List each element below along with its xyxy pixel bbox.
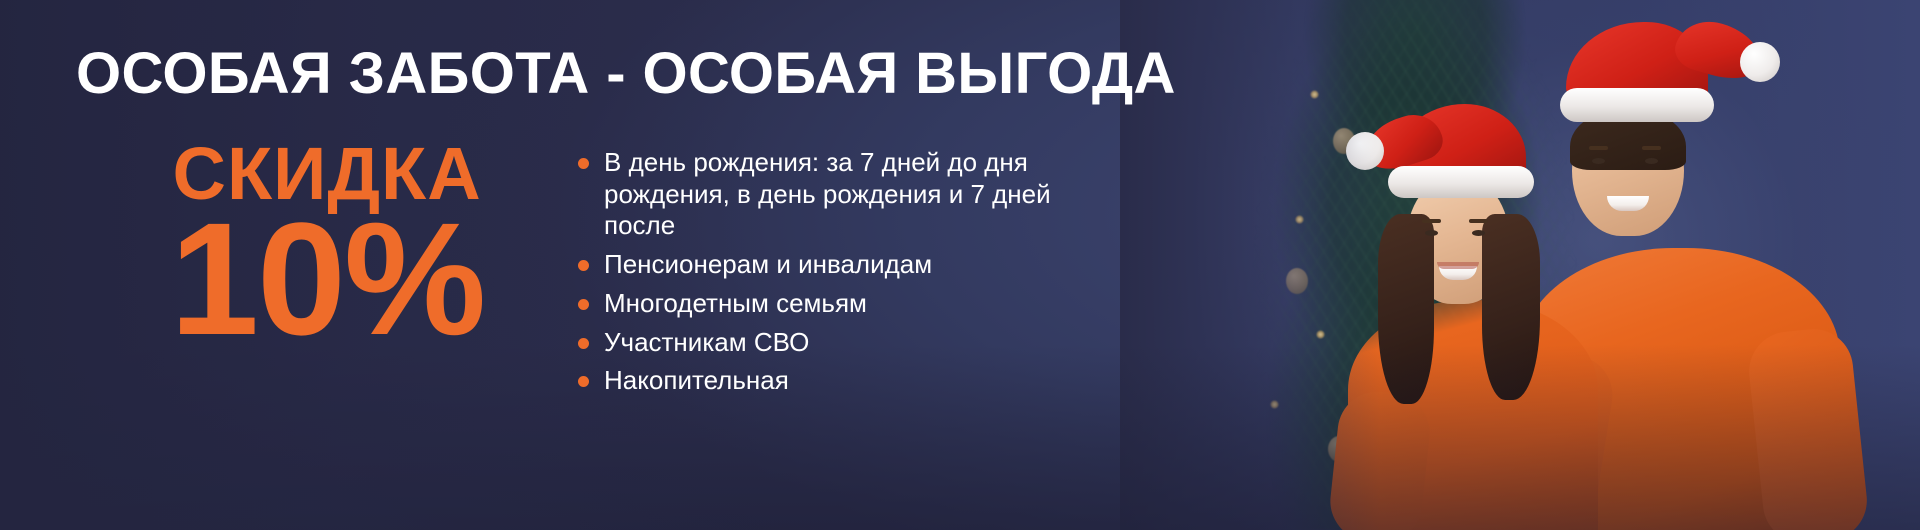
list-item: Накопительная xyxy=(572,365,1082,397)
discount-block: СКИДКА 10% xyxy=(170,140,484,348)
discount-value: 10% xyxy=(170,210,484,348)
list-item: Пенсионерам и инвалидам xyxy=(572,249,1082,281)
promo-banner: ОСОБАЯ ЗАБОТА - ОСОБАЯ ВЫГОДА СКИДКА 10%… xyxy=(0,0,1920,530)
list-item: Участникам СВО xyxy=(572,327,1082,359)
list-item: В день рождения: за 7 дней до дня рожден… xyxy=(572,147,1082,242)
benefits-list: В день рождения: за 7 дней до дня рожден… xyxy=(572,147,1082,404)
page-title: ОСОБАЯ ЗАБОТА - ОСОБАЯ ВЫГОДА xyxy=(76,44,1176,103)
list-item: Многодетным семьям xyxy=(572,288,1082,320)
